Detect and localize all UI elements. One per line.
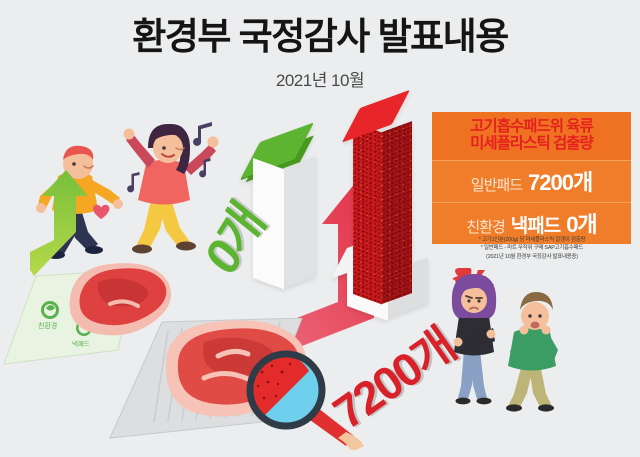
- footnote-1: * 고기1인분(200g) 당 미세플라스틱 알갱이 검출량: [432, 236, 632, 244]
- stat-row-eco-label-bold: 낵패드: [511, 211, 560, 238]
- stat-panel-heading: 고기흡수패드위 육류 미세플라스틱 검출량: [432, 112, 631, 161]
- stat-heading-line2: 미세플라스틱 검출량: [436, 135, 627, 152]
- footnote-3: (2021년 10월 환경부 국정감사 발표내용중): [432, 253, 632, 261]
- footnotes: * 고기1인분(200g) 당 미세플라스틱 알갱이 검출량 * 일반패드 - …: [432, 236, 632, 261]
- stat-row-conventional: 일반패드 7200개: [432, 161, 631, 203]
- stat-row-eco-label-small: 친환경: [466, 216, 504, 237]
- stat-row-conventional-label: 일반패드: [471, 174, 522, 195]
- person-worried-man: [500, 290, 578, 412]
- infographic-canvas: 환경부 국정감사 발표내용 2021년 10월: [0, 0, 640, 457]
- stat-row-conventional-value: 7200개: [528, 165, 592, 197]
- stat-row-eco-value: 0개: [566, 207, 596, 239]
- stat-panel: 고기흡수패드위 육류 미세플라스틱 검출량 일반패드 7200개 친환경 낵패드…: [432, 112, 631, 244]
- magnifier-with-microplastics: [238, 350, 378, 450]
- page-subtitle: 2021년 10월: [0, 66, 640, 91]
- bar-conventional-pad: [352, 108, 442, 338]
- footnote-2: * 일반패드 - 마트 무작위 구매 SAP고기흡수패드: [432, 244, 632, 252]
- stat-heading-line1: 고기흡수패드위 육류: [436, 118, 627, 135]
- page-title: 환경부 국정감사 발표내용: [0, 18, 640, 55]
